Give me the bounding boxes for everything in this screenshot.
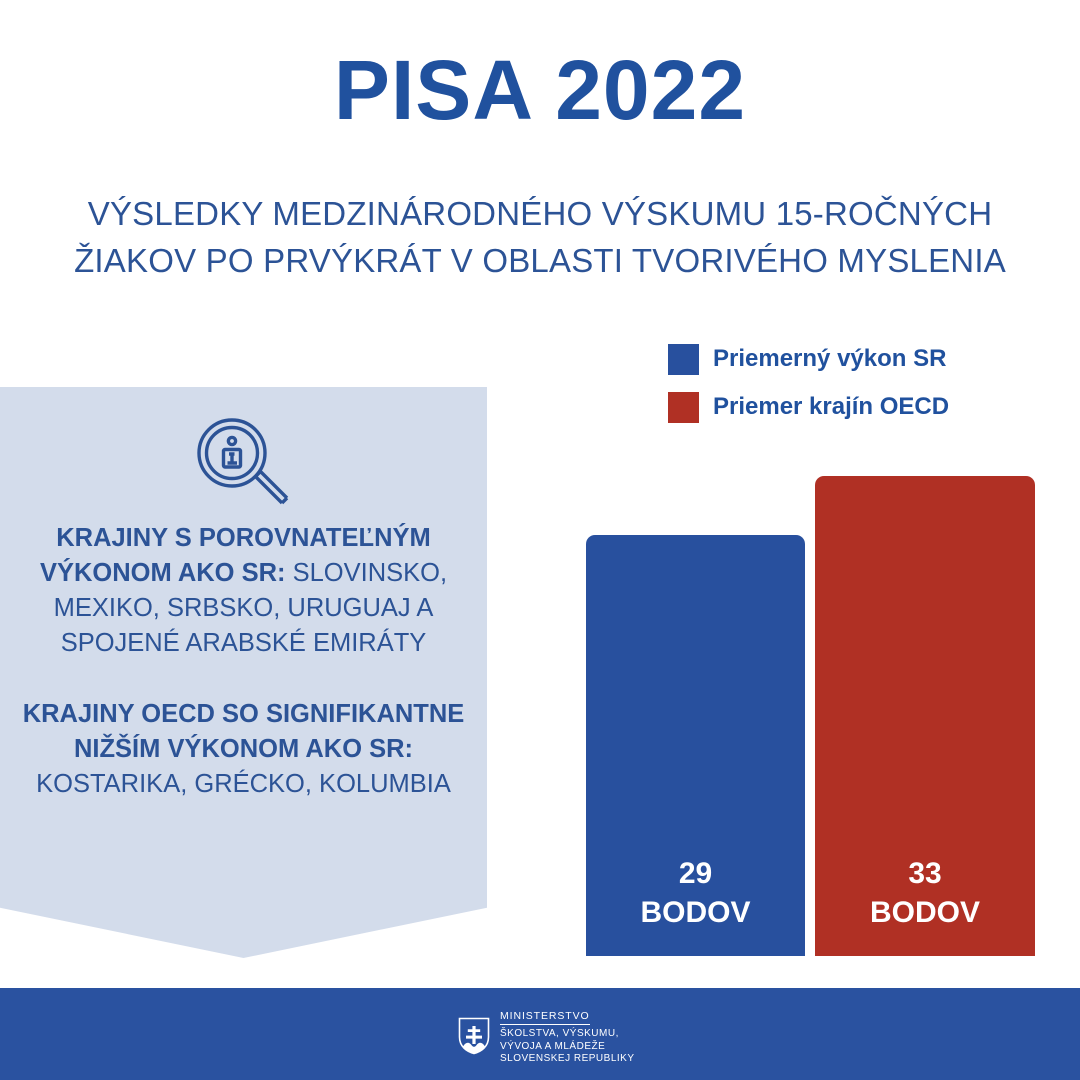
ministry-name-line-2: ŠKOLSTVA, VÝSKUMU, (500, 1028, 635, 1041)
ministry-logo-text: MINISTERSTVO ŠKOLSTVA, VÝSKUMU, VÝVOJA A… (500, 1006, 635, 1066)
ministry-name-line-3: VÝVOJA A MLÁDEŽE (500, 1041, 635, 1054)
info-block-comparable: KRAJINY S POROVNATEĽNÝM VÝKONOM AKO SR: … (22, 521, 465, 661)
legend-item-oecd: Priemer krajín OECD (668, 389, 1028, 425)
red-square-icon (668, 392, 699, 423)
bar-value-unit: BODOV (586, 893, 805, 932)
ministry-logo: MINISTERSTVO ŠKOLSTVA, VÝSKUMU, VÝVOJA A… (458, 1006, 635, 1066)
bar-value-group: 29 BODOV (586, 854, 805, 932)
magnifier-info-icon (192, 413, 296, 509)
bar-value-unit: BODOV (815, 893, 1035, 932)
footer-bar: MINISTERSTVO ŠKOLSTVA, VÝSKUMU, VÝVOJA A… (0, 988, 1080, 1080)
bar-value-number: 33 (815, 854, 1035, 893)
legend-item-label: Priemer krajín OECD (713, 393, 949, 421)
info-panel: KRAJINY S POROVNATEĽNÝM VÝKONOM AKO SR: … (0, 387, 487, 958)
info-block-lead: KRAJINY OECD SO SIGNIFIKANTNE NIŽŠÍM VÝK… (23, 700, 465, 763)
legend-item-label: Priemerný výkon SR (713, 345, 946, 373)
info-block-rest: KOSTARIKA, GRÉCKO, KOLUMBIA (36, 770, 451, 798)
page-title: PISA 2022 (0, 44, 1080, 136)
bar-priemerny-vykon-sr: 29 BODOV (586, 535, 805, 956)
ministry-name-line-4: SLOVENSKEJ REPUBLIKY (500, 1053, 635, 1066)
slovak-coat-of-arms-icon (458, 1017, 490, 1055)
blue-square-icon (668, 344, 699, 375)
info-block-lower: KRAJINY OECD SO SIGNIFIKANTNE NIŽŠÍM VÝK… (22, 697, 465, 802)
page-subtitle: VÝSLEDKY MEDZINÁRODNÉHO VÝSKUMU 15-ROČNÝ… (60, 190, 1020, 284)
ministry-name-line-1: MINISTERSTVO (500, 1010, 590, 1025)
chart-legend: Priemerný výkon SR Priemer krajín OECD (668, 341, 1028, 437)
bar-value-number: 29 (586, 854, 805, 893)
info-panel-text: KRAJINY S POROVNATEĽNÝM VÝKONOM AKO SR: … (22, 521, 465, 802)
bar-value-group: 33 BODOV (815, 854, 1035, 932)
legend-item-sr: Priemerný výkon SR (668, 341, 1028, 377)
infographic-canvas: PISA 2022 VÝSLEDKY MEDZINÁRODNÉHO VÝSKUM… (0, 0, 1080, 1080)
bar-priemer-krajin-oecd: 33 BODOV (815, 476, 1035, 956)
